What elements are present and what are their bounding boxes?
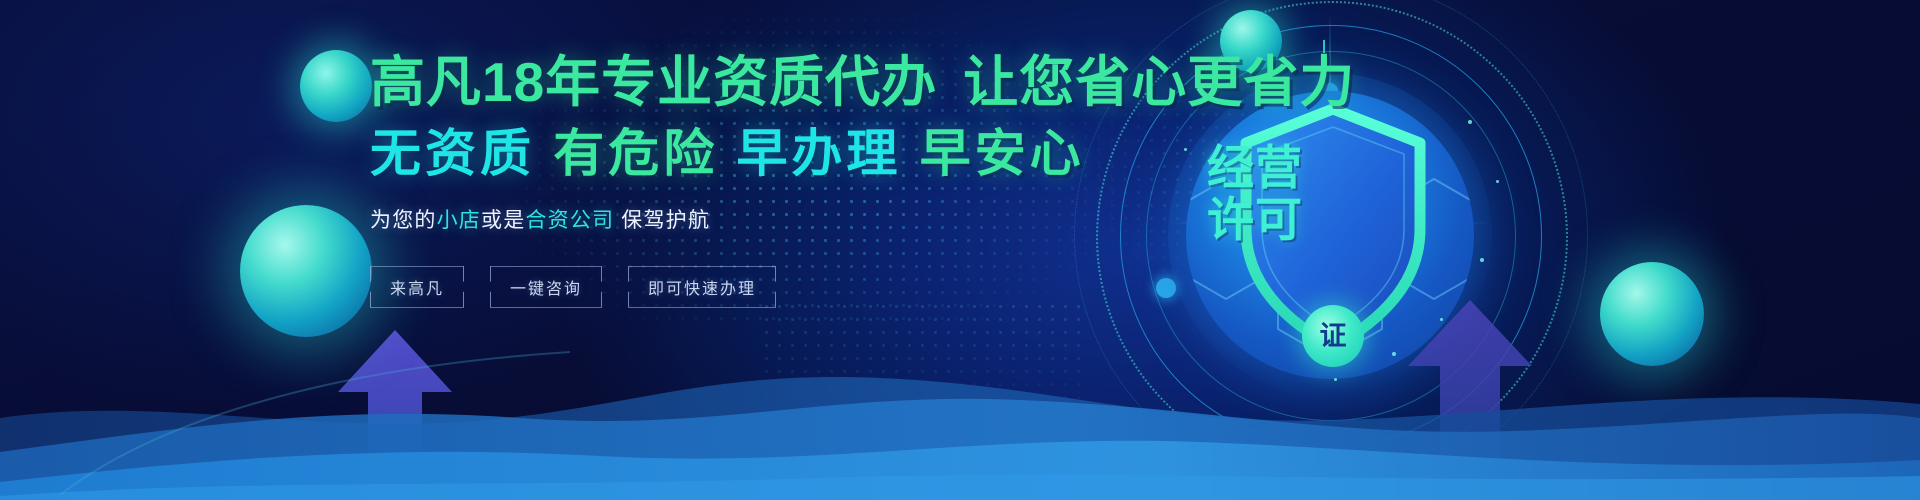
- cta-tag-2[interactable]: 一键咨询: [490, 266, 602, 308]
- decorative-arc: [60, 330, 580, 500]
- subheadline-seg-2: 有危险: [553, 125, 718, 182]
- promo-banner: 经营 许可 证: [0, 0, 1920, 500]
- glow-sphere: [300, 50, 372, 122]
- cta-tag-1[interactable]: 来高凡: [370, 266, 464, 308]
- tagline-highlight-2: 合资公司: [525, 209, 614, 232]
- cta-tag-2-label: 一键咨询: [510, 281, 582, 298]
- emblem-line-2: 许可: [1207, 195, 1303, 245]
- subheadline-seg-3: 早办理: [736, 125, 901, 182]
- emblem-line-1: 经营: [1207, 143, 1303, 193]
- tagline-tail: 保驾护航: [621, 209, 710, 232]
- tagline-mid: 或是: [481, 209, 525, 232]
- tagline-highlight-1: 小店: [437, 209, 481, 232]
- headline: 高凡18年专业资质代办让您省心更省力: [370, 52, 1190, 114]
- banner-copy: 高凡18年专业资质代办让您省心更省力 无资质 有危险 早办理 早安心 为您的小店…: [370, 52, 1190, 308]
- subheadline-seg-1: 无资质: [370, 125, 535, 182]
- subheadline: 无资质 有危险 早办理 早安心: [370, 126, 1190, 182]
- tagline-lead: 为您的: [370, 209, 437, 232]
- headline-part-1: 高凡18年专业资质代办: [370, 51, 937, 113]
- cta-tag-row: 来高凡 一键咨询 即可快速办理: [370, 266, 1190, 308]
- tagline: 为您的小店或是合资公司 保驾护航: [370, 204, 1190, 234]
- headline-part-2: 让您省心更省力: [963, 51, 1355, 113]
- cta-tag-3-label: 即可快速办理: [648, 281, 756, 298]
- subheadline-seg-4: 早安心: [920, 125, 1085, 182]
- cta-tag-3[interactable]: 即可快速办理: [628, 266, 776, 308]
- cta-tag-1-label: 来高凡: [390, 281, 444, 298]
